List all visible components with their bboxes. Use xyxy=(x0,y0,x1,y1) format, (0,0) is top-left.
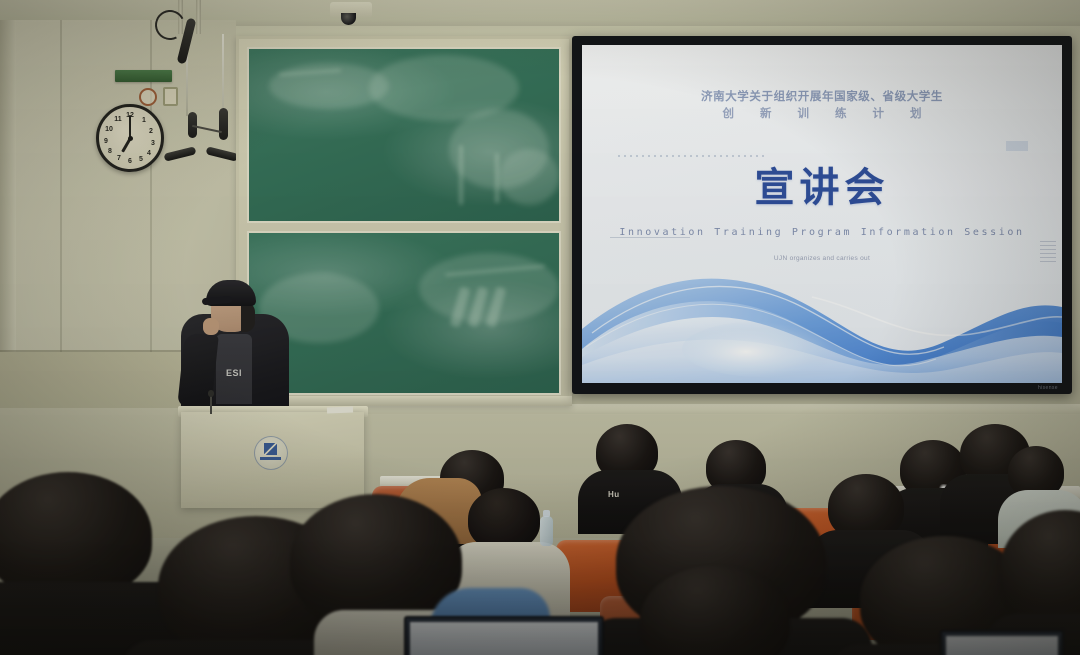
ceiling-conduit-right xyxy=(196,0,201,34)
clock-numeral: 7 xyxy=(114,154,124,164)
water-bottle xyxy=(540,516,553,546)
laptop[interactable] xyxy=(404,616,604,655)
presenter: ESI xyxy=(175,272,295,422)
slide-heading-line1: 济南大学关于组织开展年国家级、省级大学生 xyxy=(701,91,943,103)
green-notice-sign xyxy=(115,70,172,82)
clock-numeral: 2 xyxy=(146,127,156,137)
slide-wave-graphic xyxy=(582,237,1062,383)
hoodie-text: Hu xyxy=(608,490,620,499)
podium xyxy=(181,412,364,508)
podium-papers xyxy=(327,407,353,414)
blackboard-upper-panel xyxy=(247,47,561,223)
clock-numeral: 3 xyxy=(148,139,158,149)
clock-numeral: 10 xyxy=(104,125,114,135)
clock-numeral: 11 xyxy=(113,115,123,125)
projection-display[interactable]: 济南大学关于组织开展年国家级、省级大学生 创新训练计划 宣讲会 Innovati… xyxy=(572,36,1072,394)
slide-surface: 济南大学关于组织开展年国家级、省级大学生 创新训练计划 宣讲会 Innovati… xyxy=(582,45,1062,383)
presenter-shirt-text: ESI xyxy=(216,368,252,378)
laptop-screen xyxy=(946,636,1058,655)
audience-head xyxy=(468,488,540,550)
presenter-hair xyxy=(241,302,255,332)
podium-microphone-icon xyxy=(210,394,212,414)
mic-capsule-right xyxy=(219,108,228,140)
lecture-hall-photo: 12 1 2 3 4 5 6 7 8 9 10 11 xyxy=(0,0,1080,655)
slide-title: 宣讲会 xyxy=(582,155,1062,213)
laptop[interactable] xyxy=(940,630,1064,655)
safety-icon-square xyxy=(163,87,178,106)
clock-numeral: 8 xyxy=(105,147,115,157)
presenter-shirt: ESI xyxy=(216,334,252,404)
university-emblem-icon xyxy=(254,436,288,470)
clock-minute-hand xyxy=(129,115,131,138)
slide-heading-line2: 创新训练计划 xyxy=(582,106,1062,123)
chalk-streak xyxy=(459,145,463,205)
presenter-hand xyxy=(203,318,219,335)
presenter-cap xyxy=(206,280,256,306)
audience-head xyxy=(0,472,152,598)
safety-icon-round xyxy=(139,88,157,106)
dome-camera-icon xyxy=(330,2,372,18)
clock-numeral: 9 xyxy=(101,137,111,147)
display-brand-mark: hisense xyxy=(1038,385,1058,391)
slide-heading: 济南大学关于组织开展年国家级、省级大学生 创新训练计划 xyxy=(582,89,1062,123)
laptop-screen xyxy=(410,622,598,655)
faint-block-decoration xyxy=(1006,141,1028,151)
clock-numeral: 6 xyxy=(125,157,135,167)
wall-clock: 12 1 2 3 4 5 6 7 8 9 10 11 xyxy=(96,104,164,172)
chalk-smudge xyxy=(499,149,559,205)
clock-numeral: 1 xyxy=(139,116,149,126)
clock-center-pin xyxy=(128,136,133,141)
clock-numeral: 5 xyxy=(136,155,146,165)
